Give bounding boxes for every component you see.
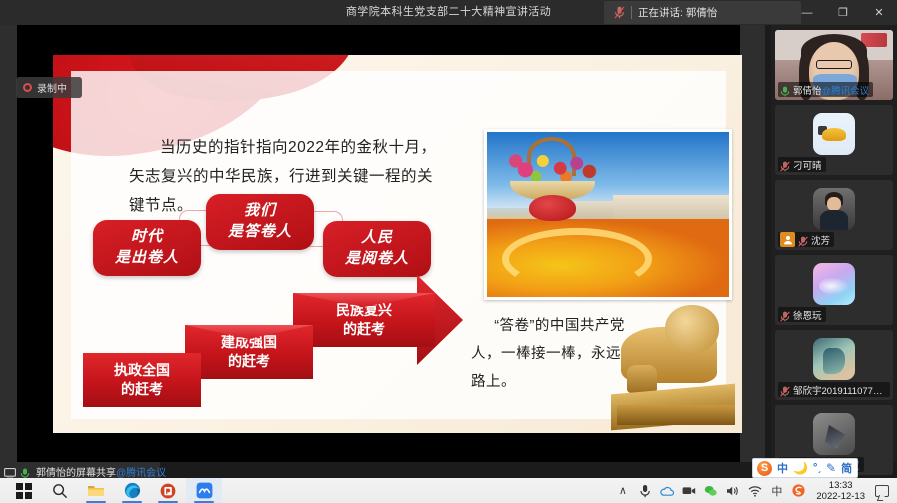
lion-pedestal-lower bbox=[617, 405, 735, 425]
ime-mode-toggle[interactable]: 中 bbox=[777, 460, 788, 476]
ime-punctuation-toggle[interactable]: °ˏ bbox=[813, 462, 821, 474]
window-controls: — ❐ ✕ bbox=[789, 0, 897, 25]
participant-name-1: 刁可晴 bbox=[793, 158, 822, 172]
active-speaker-indicator: 正在讲话: 郭倩怡 bbox=[604, 1, 801, 24]
microphone-icon[interactable] bbox=[637, 483, 652, 498]
participant-namebar-2: 沈芳 bbox=[778, 232, 834, 247]
tiananmen-flower-basket-photo bbox=[484, 129, 732, 300]
maximize-button[interactable]: ❐ bbox=[825, 0, 861, 25]
slide-bubble-3: 人民 是阅卷人 bbox=[323, 221, 431, 277]
participant-name-3: 徐恩玩 bbox=[793, 308, 822, 322]
participant-tile-2[interactable]: 沈芳 bbox=[775, 180, 893, 250]
microphone-icon bbox=[20, 466, 32, 477]
participant-avatar-cat bbox=[813, 113, 855, 155]
ime-simplified-toggle[interactable]: 简 bbox=[841, 460, 852, 476]
microphone-muted-icon bbox=[798, 234, 808, 245]
desktop-root: 商学院本科生党支部二十大精神宣讲活动 正在讲话: 郭倩怡 — ❐ ✕ bbox=[0, 0, 897, 503]
banner-2-line-1: 建成强国 bbox=[221, 333, 277, 352]
windows-start-icon[interactable] bbox=[6, 478, 42, 503]
participant-rail[interactable]: 郭倩怡@腾讯会议 刁可晴 bbox=[771, 25, 897, 462]
tencent-meeting-icon[interactable] bbox=[186, 478, 222, 503]
lion-leg bbox=[627, 365, 657, 393]
screen-share-icon bbox=[4, 466, 16, 477]
meeting-title-bar: 商学院本科生党支部二十大精神宣讲活动 正在讲话: 郭倩怡 — ❐ ✕ bbox=[0, 0, 897, 25]
participant-name-0: 郭倩怡@腾讯会议 bbox=[793, 83, 869, 97]
participant-tile-4[interactable]: 邹欣宇2019111077@... bbox=[775, 330, 893, 400]
slide-arrow-banners: 民族复兴 的赶考 建成强国 的赶考 执政全国 的赶考 bbox=[77, 279, 397, 407]
clock-time: 13:33 bbox=[816, 480, 865, 491]
onedrive-icon[interactable] bbox=[659, 483, 674, 498]
ime-icon[interactable]: 中 bbox=[769, 483, 784, 498]
pen-icon[interactable]: ✎ bbox=[826, 461, 836, 475]
moon-icon[interactable]: 🌙 bbox=[793, 461, 808, 475]
taskbar-pinned-items bbox=[0, 478, 222, 503]
photo-flower-basket bbox=[504, 142, 601, 228]
slide-bubble-2: 我们 是答卷人 bbox=[206, 194, 314, 250]
divider bbox=[631, 6, 632, 19]
avatar-swirl bbox=[819, 277, 849, 295]
minimize-button[interactable]: — bbox=[789, 0, 825, 25]
participant-namebar-0: 郭倩怡@腾讯会议 bbox=[778, 82, 873, 97]
shared-screen-area: 当历史的指针指向2022年的金秋十月，矢志复兴的中华民族，行进到关键一程的关键节… bbox=[0, 25, 765, 462]
sogou-icon[interactable] bbox=[791, 483, 806, 498]
camera-icon[interactable] bbox=[681, 483, 696, 498]
volume-icon[interactable] bbox=[725, 483, 740, 498]
participant-avatar-woman bbox=[813, 188, 855, 230]
bubble-3-line-1: 人民 bbox=[361, 228, 393, 249]
participant-avatar-gray bbox=[813, 413, 855, 455]
recording-label: 录制中 bbox=[37, 80, 67, 95]
clock-date: 2022-12-13 bbox=[816, 491, 865, 502]
avatar-body bbox=[820, 210, 848, 230]
microphone-muted-icon bbox=[780, 309, 790, 320]
video-glasses bbox=[816, 60, 852, 69]
banner-2: 建成强国 的赶考 bbox=[185, 325, 313, 379]
host-badge-icon bbox=[780, 232, 795, 247]
slide-content-panel: 当历史的指针指向2022年的金秋十月，矢志复兴的中华民族，行进到关键一程的关键节… bbox=[71, 71, 726, 419]
windows-taskbar: ∧ bbox=[0, 478, 897, 503]
banner-3: 民族复兴 的赶考 bbox=[293, 293, 435, 347]
golden-lion-statue bbox=[611, 293, 735, 425]
banner-3-line-1: 民族复兴 bbox=[336, 301, 392, 320]
slide-bubble-1: 时代 是出卷人 bbox=[93, 220, 201, 276]
taskbar-system-tray: ∧ bbox=[615, 480, 897, 502]
participant-tile-1[interactable]: 刁可晴 bbox=[775, 105, 893, 175]
avatar-photo-shape bbox=[823, 348, 845, 374]
bubble-2-line-2: 是答卷人 bbox=[228, 222, 292, 243]
screen-share-stage: 当历史的指针指向2022年的金秋十月，矢志复兴的中华民族，行进到关键一程的关键节… bbox=[17, 25, 740, 462]
bubble-2-line-1: 我们 bbox=[244, 201, 276, 222]
participant-namebar-4: 邹欣宇2019111077@... bbox=[778, 382, 890, 397]
banner-3-line-2: 的赶考 bbox=[343, 320, 385, 339]
taskbar-clock[interactable]: 13:33 2022-12-13 bbox=[813, 480, 868, 502]
presentation-slide: 当历史的指针指向2022年的金秋十月，矢志复兴的中华民族，行进到关键一程的关键节… bbox=[53, 55, 742, 433]
participant-name-2: 沈芳 bbox=[811, 233, 830, 247]
participant-name-4: 邹欣宇2019111077@... bbox=[793, 383, 886, 397]
photo-flower-swirl bbox=[502, 228, 652, 291]
close-button[interactable]: ✕ bbox=[861, 0, 897, 25]
basket-vase bbox=[529, 195, 575, 221]
active-speaker-label: 正在讲话: 郭倩怡 bbox=[638, 5, 717, 20]
banner-1: 执政全国 的赶考 bbox=[83, 353, 201, 407]
avatar-face bbox=[827, 197, 841, 211]
participant-name-text-3: 徐恩玩 bbox=[793, 311, 822, 322]
recording-indicator: 录制中 bbox=[16, 77, 82, 98]
wechat-icon[interactable] bbox=[703, 483, 718, 498]
share-owner-name: 郭倩怡的屏幕共享 bbox=[36, 468, 116, 479]
search-icon[interactable] bbox=[42, 478, 78, 503]
network-icon[interactable] bbox=[747, 483, 762, 498]
participant-avatar-photo bbox=[813, 338, 855, 380]
participant-tile-3[interactable]: 徐恩玩 bbox=[775, 255, 893, 325]
notification-icon[interactable] bbox=[875, 485, 889, 497]
participant-namebar-1: 刁可晴 bbox=[778, 157, 826, 172]
microphone-muted-icon bbox=[780, 384, 790, 395]
banner-1-line-2: 的赶考 bbox=[121, 380, 163, 399]
participant-tile-0[interactable]: 郭倩怡@腾讯会议 bbox=[775, 30, 893, 100]
share-status-text: 郭倩怡的屏幕共享@腾讯会议 bbox=[36, 464, 166, 479]
bubble-1-line-1: 时代 bbox=[131, 227, 163, 248]
powerpoint-icon[interactable] bbox=[150, 478, 186, 503]
record-dot-icon bbox=[23, 83, 32, 92]
participant-namebar-3: 徐恩玩 bbox=[778, 307, 826, 322]
participant-avatar-pink bbox=[813, 263, 855, 305]
share-app-name: @腾讯会议 bbox=[116, 468, 166, 479]
participant-name-text-2: 沈芳 bbox=[811, 236, 830, 247]
microphone-muted-icon bbox=[780, 159, 790, 170]
bubble-1-line-2: 是出卷人 bbox=[115, 248, 179, 269]
banner-1-line-1: 执政全国 bbox=[114, 361, 170, 380]
file-explorer-icon[interactable] bbox=[78, 478, 114, 503]
participant-name-text-0: 郭倩怡 bbox=[793, 86, 822, 97]
participant-name-text-1: 刁可晴 bbox=[793, 161, 822, 172]
basket-blooms bbox=[504, 145, 601, 184]
sogou-ime-toolbar[interactable]: S 中 🌙 °ˏ ✎ 简 bbox=[752, 458, 858, 478]
microphone-icon bbox=[614, 6, 625, 19]
participant-suffix-0: @腾讯会议 bbox=[822, 86, 870, 97]
lion-head bbox=[665, 305, 719, 353]
edge-browser-icon[interactable] bbox=[114, 478, 150, 503]
sogou-logo-icon[interactable]: S bbox=[757, 461, 772, 476]
bubble-3-line-2: 是阅卷人 bbox=[345, 249, 409, 270]
photo-image bbox=[487, 132, 729, 297]
chevron-up-icon[interactable]: ∧ bbox=[615, 483, 630, 498]
participant-name-text-4: 邹欣宇2019111077 bbox=[793, 386, 882, 397]
microphone-icon bbox=[780, 84, 790, 95]
banner-2-line-2: 的赶考 bbox=[228, 352, 270, 371]
avatar-gray-shape bbox=[825, 425, 845, 449]
